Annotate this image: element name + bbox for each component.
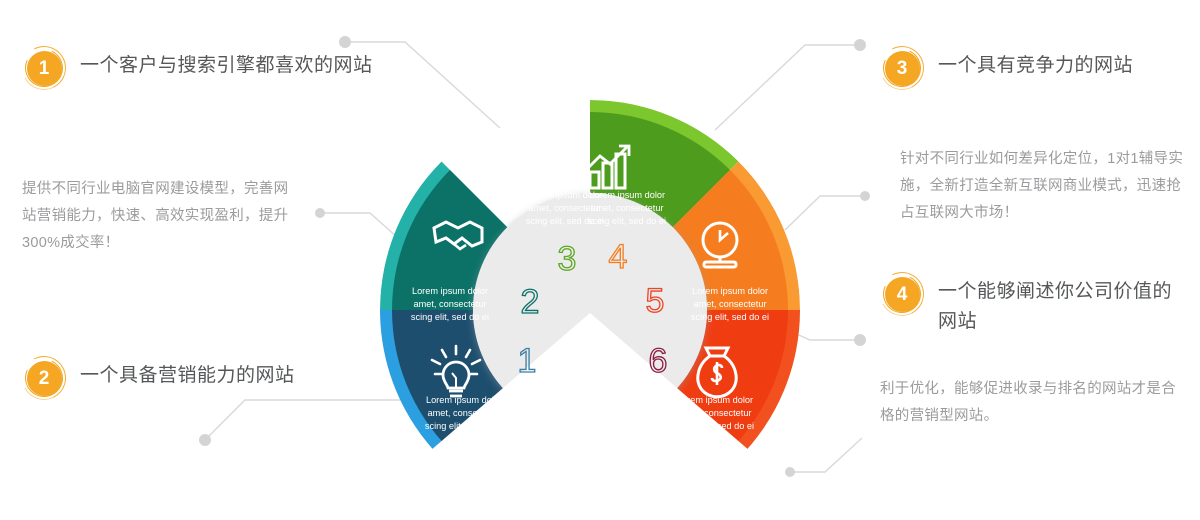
caption-line: scing elit, sed do ei — [676, 421, 754, 431]
badge-2: 2 — [22, 356, 66, 400]
caption-line: Lorem ipsum dolor — [692, 286, 768, 296]
caption-line: scing elit, sed do ei — [411, 312, 489, 322]
callout-2-header: 2 一个具备营销能力的网站 — [22, 356, 402, 400]
caption-line: amet, consectetur — [678, 408, 751, 418]
connector-dot-2 — [199, 434, 211, 446]
badge-number-3: 3 — [885, 51, 920, 86]
callout-3-header: 3 一个具有竞争力的网站 — [880, 46, 1190, 90]
connector-path-4b — [790, 438, 862, 472]
horseshoe-wheel-diagram: Lorem ipsum dolor amet, consectetur scin… — [380, 100, 800, 500]
gears-icon — [544, 144, 586, 183]
caption-line: amet, consectetur — [427, 408, 500, 418]
connector-dot-4 — [854, 334, 866, 346]
caption-line: Lorem ipsum dolor — [412, 286, 488, 296]
segment-2-caption: Lorem ipsum dolor amet, consectetur scin… — [411, 286, 489, 322]
segment-6-caption: Lorem ipsum dolor amet, consectetur scin… — [676, 395, 754, 431]
callout-4-header: 4 一个能够阐述你公司价值的网站 — [880, 272, 1180, 337]
caption-line: scing elit, sed do ei — [691, 312, 769, 322]
callout-3-title: 一个具有竞争力的网站 — [938, 46, 1133, 81]
caption-line: scing elit, sed do ei — [425, 421, 503, 431]
center-number-2: 2 — [521, 283, 540, 321]
caption-line: amet, consectetur — [590, 203, 663, 213]
callout-2[interactable]: 2 一个具备营销能力的网站 — [22, 356, 402, 400]
connector-dot-3b — [860, 191, 870, 201]
callout-1-header: 1 一个客户与搜索引擎都喜欢的网站 — [22, 46, 402, 90]
caption-line: amet, consectetur — [413, 299, 486, 309]
callout-3-body: 针对不同行业如何差异化定位，1对1辅导实施，全新打造全新互联网商业模式，迅速抢占… — [900, 146, 1190, 227]
caption-line: Lorem ipsum dolor — [426, 395, 502, 405]
segment-5-caption: Lorem ipsum dolor amet, consectetur scin… — [691, 286, 769, 322]
badge-4: 4 — [880, 272, 924, 316]
connector-dot-1b — [315, 208, 325, 218]
center-number-5: 5 — [646, 282, 665, 320]
center-number-1: 1 — [518, 342, 537, 380]
caption-line: Lorem ipsum dolor — [677, 395, 753, 405]
callout-3[interactable]: 3 一个具有竞争力的网站 — [880, 46, 1190, 90]
callout-4-title: 一个能够阐述你公司价值的网站 — [938, 272, 1180, 337]
segment-1-caption: Lorem ipsum dolor amet, consectetur scin… — [425, 395, 503, 431]
badge-3: 3 — [880, 46, 924, 90]
badge-1: 1 — [22, 46, 66, 90]
callout-4[interactable]: 4 一个能够阐述你公司价值的网站 — [880, 272, 1180, 337]
badge-number-1: 1 — [27, 51, 62, 86]
center-number-4: 4 — [609, 238, 628, 276]
segment-4-caption: Lorem ipsum dolor amet, consectetur scin… — [588, 190, 666, 226]
center-number-3: 3 — [558, 240, 577, 278]
callout-1-body: 提供不同行业电脑官网建设模型，完善网站营销能力，快速、高效实现盈利，提升300%… — [22, 176, 302, 257]
caption-line: scing elit, sed do ei — [588, 216, 666, 226]
connector-dot-3 — [854, 39, 866, 51]
badge-number-4: 4 — [885, 277, 920, 312]
callout-2-title: 一个具备营销能力的网站 — [80, 356, 295, 391]
badge-number-2: 2 — [27, 361, 62, 396]
callout-4-body: 利于优化，能够促进收录与排名的网站才是合格的营销型网站。 — [880, 376, 1180, 430]
callout-1-title: 一个客户与搜索引擎都喜欢的网站 — [80, 46, 373, 81]
callout-1[interactable]: 1 一个客户与搜索引擎都喜欢的网站 — [22, 46, 402, 90]
center-number-6: 6 — [649, 342, 668, 380]
caption-line: Lorem ipsum dolor — [589, 190, 665, 200]
caption-line: amet, consectetur — [693, 299, 766, 309]
